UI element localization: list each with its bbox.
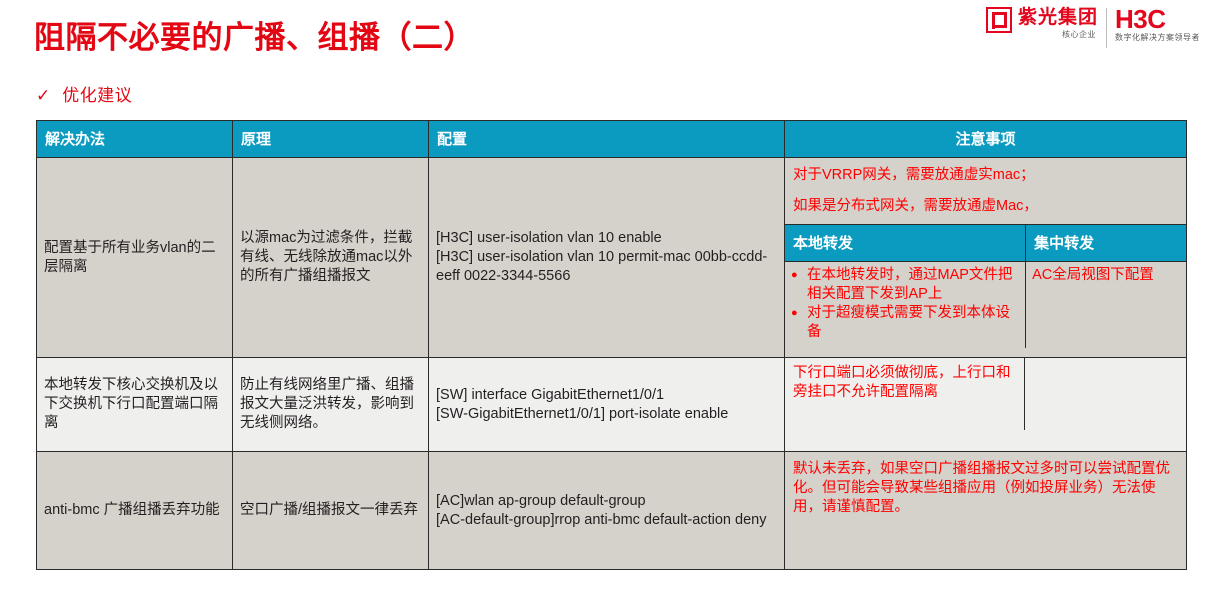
notes-full-text: 默认未丢弃，如果空口广播组播报文过多时可以尝试配置优化。但可能会导致某些组播应用…: [785, 452, 1186, 525]
h3c-subtitle: 数字化解决方案领导者: [1115, 32, 1200, 43]
forwarding-mode-table: 本地转发 集中转发 在本地转发时，通过MAP文件把相关配置下发到AP上 对于超瘦…: [785, 224, 1186, 348]
table-row: 配置基于所有业务vlan的二层隔离 以源mac为过滤条件，拦截有线、无线除放通m…: [37, 158, 1187, 358]
cell-solution-text: 配置基于所有业务vlan的二层隔离: [44, 239, 225, 277]
cell-notes: 下行口端口必须做彻底，上行口和旁挂口不允许配置隔离: [785, 358, 1187, 452]
ziguang-name: 紫光集团: [1018, 6, 1098, 29]
cell-config: [AC]wlan ap-group default-group [AC-defa…: [429, 452, 785, 570]
table-header: 解决办法 原理 配置 注意事项: [37, 121, 1187, 158]
nested-column-header-central: 集中转发: [1026, 225, 1186, 262]
logo-divider: [1106, 8, 1107, 48]
ziguang-subtitle: 核心企业: [1062, 29, 1098, 40]
optimization-table: 解决办法 原理 配置 注意事项 配置基于所有业务vlan的二层隔离 以源mac为…: [36, 120, 1187, 570]
local-forwarding-bullets: 在本地转发时，通过MAP文件把相关配置下发到AP上 对于超瘦模式需要下发到本体设…: [791, 266, 1017, 342]
nested-table-body: 在本地转发时，通过MAP文件把相关配置下发到AP上 对于超瘦模式需要下发到本体设…: [785, 262, 1186, 349]
check-icon: ✓: [36, 87, 50, 104]
cell-config-text: [SW] interface GigabitEthernet1/0/1 [SW-…: [436, 386, 777, 424]
h3c-brand: H3C: [1115, 6, 1200, 32]
notes-left-text: 下行口端口必须做彻底，上行口和旁挂口不允许配置隔离: [785, 358, 1025, 430]
section-heading: ✓ 优化建议: [36, 86, 132, 105]
column-header-config: 配置: [429, 121, 785, 158]
cell-principle-text: 防止有线网络里广播、组播报文大量泛洪转发，影响到无线侧网络。: [240, 376, 421, 433]
cell-principle: 防止有线网络里广播、组播报文大量泛洪转发，影响到无线侧网络。: [233, 358, 429, 452]
page-title: 阻隔不必要的广播、组播（二）: [34, 12, 475, 57]
cell-principle: 以源mac为过滤条件，拦截有线、无线除放通mac以外的所有广播组播报文: [233, 158, 429, 358]
cell-config-text: [H3C] user-isolation vlan 10 enable [H3C…: [436, 229, 777, 286]
cell-solution: 本地转发下核心交换机及以下交换机下行口配置端口隔离: [37, 358, 233, 452]
ziguang-logo-mark-icon: [986, 7, 1012, 33]
cell-solution: 配置基于所有业务vlan的二层隔离: [37, 158, 233, 358]
nested-cell-central: AC全局视图下配置: [1026, 262, 1186, 349]
cell-principle-text: 空口广播/组播报文一律丢弃: [240, 501, 421, 520]
table-body: 配置基于所有业务vlan的二层隔离 以源mac为过滤条件，拦截有线、无线除放通m…: [37, 158, 1187, 570]
notes-paragraphs: 对于VRRP网关，需要放通虚实mac； 如果是分布式网关，需要放通虚Mac，: [785, 158, 1186, 224]
cell-config: [H3C] user-isolation vlan 10 enable [H3C…: [429, 158, 785, 358]
nested-column-header-local: 本地转发: [785, 225, 1026, 262]
cell-solution-text: 本地转发下核心交换机及以下交换机下行口配置端口隔离: [44, 376, 225, 433]
notes-right-text: [1025, 358, 1186, 430]
cell-config-text: [AC]wlan ap-group default-group [AC-defa…: [436, 492, 777, 530]
table-row: 本地转发下核心交换机及以下交换机下行口配置端口隔离 防止有线网络里广播、组播报文…: [37, 358, 1187, 452]
column-header-solution: 解决办法: [37, 121, 233, 158]
cell-solution-text: anti-bmc 广播组播丢弃功能: [44, 501, 225, 520]
notes-split-container: 下行口端口必须做彻底，上行口和旁挂口不允许配置隔离: [785, 358, 1186, 430]
ziguang-wordmark: 紫光集团 核心企业: [1018, 6, 1098, 40]
cell-principle: 空口广播/组播报文一律丢弃: [233, 452, 429, 570]
column-header-notes: 注意事项: [785, 121, 1187, 158]
nested-cell-local: 在本地转发时，通过MAP文件把相关配置下发到AP上 对于超瘦模式需要下发到本体设…: [785, 262, 1026, 349]
notes-paragraph: 对于VRRP网关，需要放通虚实mac；: [793, 166, 1178, 185]
h3c-wordmark: H3C 数字化解决方案领导者: [1115, 6, 1200, 43]
cell-notes: 默认未丢弃，如果空口广播组播报文过多时可以尝试配置优化。但可能会导致某些组播应用…: [785, 452, 1187, 570]
nested-header-row: 本地转发 集中转发: [785, 225, 1186, 262]
cell-notes: 对于VRRP网关，需要放通虚实mac； 如果是分布式网关，需要放通虚Mac， 本…: [785, 158, 1187, 358]
nested-table-row: 在本地转发时，通过MAP文件把相关配置下发到AP上 对于超瘦模式需要下发到本体设…: [785, 262, 1186, 349]
bullet-item: 对于超瘦模式需要下发到本体设备: [791, 304, 1017, 342]
nested-table-header: 本地转发 集中转发: [785, 225, 1186, 262]
cell-solution: anti-bmc 广播组播丢弃功能: [37, 452, 233, 570]
bullet-item: 在本地转发时，通过MAP文件把相关配置下发到AP上: [791, 266, 1017, 304]
table-row: anti-bmc 广播组播丢弃功能 空口广播/组播报文一律丢弃 [AC]wlan…: [37, 452, 1187, 570]
cell-config: [SW] interface GigabitEthernet1/0/1 [SW-…: [429, 358, 785, 452]
notes-paragraph: 如果是分布式网关，需要放通虚Mac，: [793, 197, 1178, 216]
brand-logo: 紫光集团 核心企业 H3C 数字化解决方案领导者: [986, 6, 1200, 50]
column-header-principle: 原理: [233, 121, 429, 158]
section-heading-label: 优化建议: [62, 86, 132, 105]
table-header-row: 解决办法 原理 配置 注意事项: [37, 121, 1187, 158]
cell-principle-text: 以源mac为过滤条件，拦截有线、无线除放通mac以外的所有广播组播报文: [240, 229, 421, 286]
